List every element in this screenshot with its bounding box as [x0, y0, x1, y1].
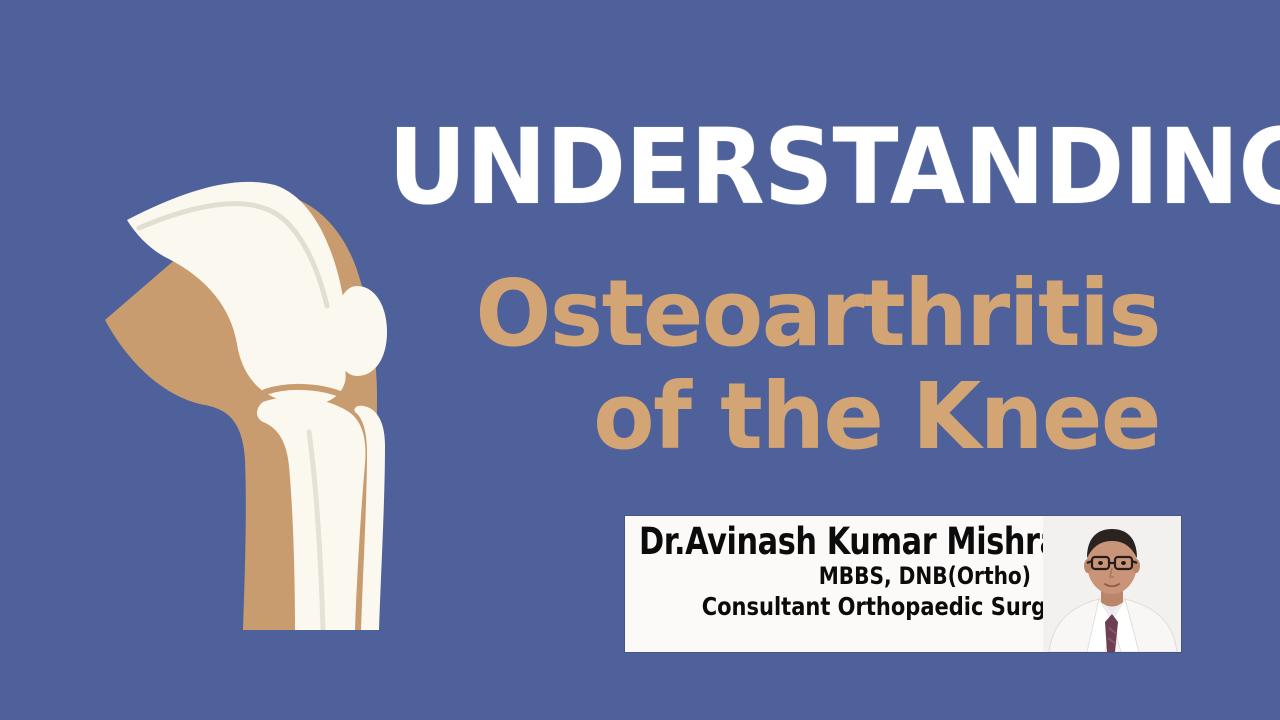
subtitle-line-2: of the Knee: [355, 365, 1160, 468]
presentation-slide: UNDERSTANDING Osteoarthritis of the Knee…: [0, 0, 1280, 720]
title-block: UNDERSTANDING: [330, 118, 1160, 218]
presenter-card: Dr.Avinash Kumar Mishra MBBS, DNB(Ortho)…: [625, 516, 1181, 652]
eye-right: [1121, 561, 1126, 565]
presenter-name: Dr.Avinash Kumar Mishra: [639, 523, 960, 561]
presenter-details: Dr.Avinash Kumar Mishra MBBS, DNB(Ortho)…: [625, 516, 1043, 652]
subtitle-line-1: Osteoarthritis: [355, 262, 1160, 365]
eye-left: [1098, 561, 1103, 565]
presenter-role: Consultant Orthopaedic Surgeon: [702, 593, 1031, 621]
presenter-photo: [1043, 516, 1181, 652]
page-title: UNDERSTANDING: [388, 118, 1160, 218]
presenter-qualifications: MBBS, DNB(Ortho): [702, 563, 1031, 589]
subtitle-block: Osteoarthritis of the Knee: [330, 262, 1160, 468]
